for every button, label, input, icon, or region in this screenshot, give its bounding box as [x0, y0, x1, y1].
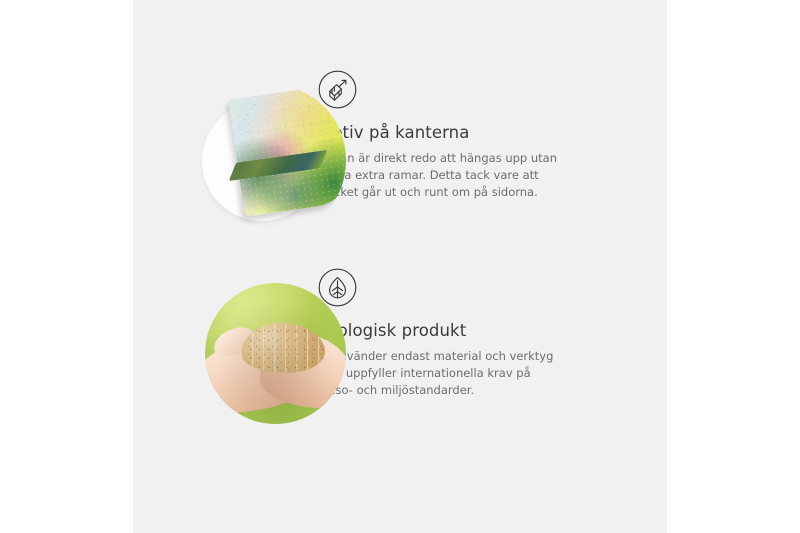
feature-description: Vi använder endast material och verktyg …: [318, 348, 566, 399]
canvas-artwork-texture: [228, 85, 346, 217]
canvas-artwork: [228, 85, 346, 217]
feature-description: Tavlan är direkt redo att hängas upp uta…: [318, 150, 566, 201]
feature-title: Motiv på kanterna: [318, 123, 566, 143]
wood-chips-hands-photo: [205, 283, 346, 424]
product-feature-infographic: Motiv på kanterna Tavlan är direkt redo …: [0, 0, 800, 533]
feature-block-ekologisk-produkt: Ekologisk produkt Vi använder endast mat…: [133, 268, 566, 440]
feature-block-motiv-pa-kanterna: Motiv på kanterna Tavlan är direkt redo …: [133, 70, 566, 242]
photo-shading: [205, 283, 346, 424]
feature-title: Ekologisk produkt: [318, 321, 566, 341]
canvas-corner-photo-wrap: [133, 70, 305, 242]
wood-chips-hands-photo-wrap: [133, 268, 305, 440]
canvas-corner-photo: [200, 85, 346, 236]
